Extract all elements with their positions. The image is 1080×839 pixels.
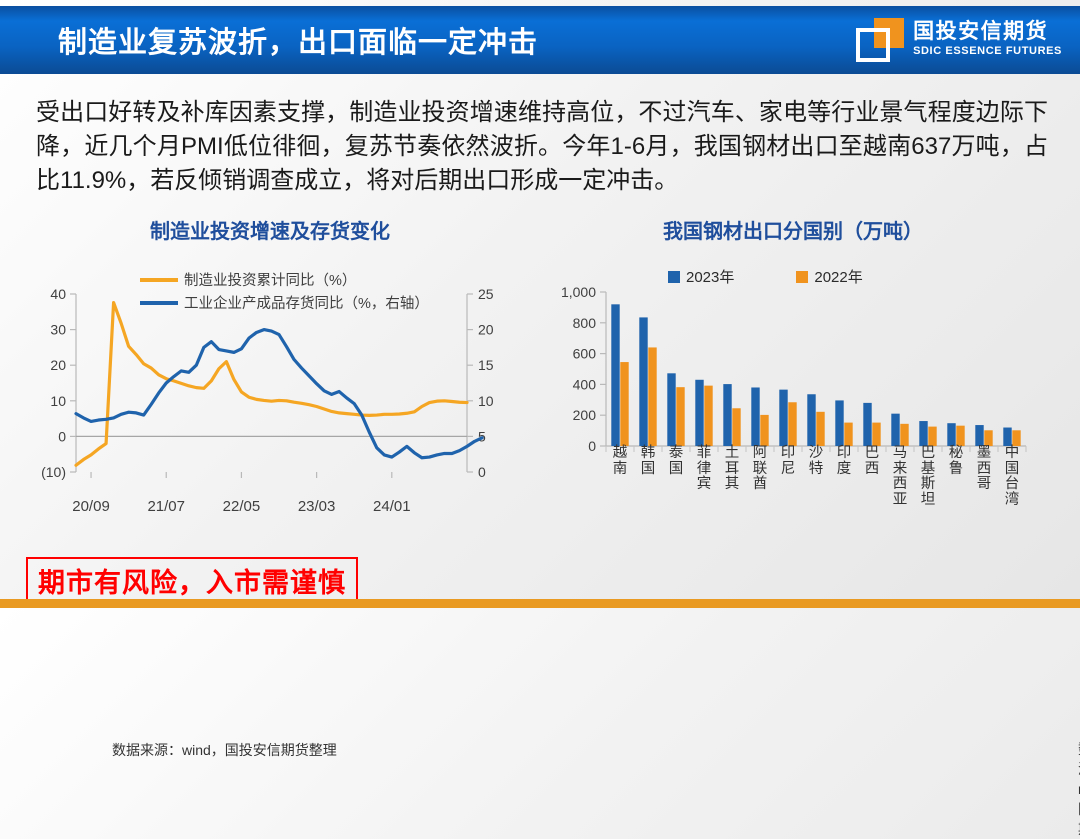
bar-category-label: 泰国 — [666, 446, 686, 477]
page-title: 制造业复苏波折，出口面临一定冲击 — [58, 19, 538, 61]
x-tick-label: 24/01 — [364, 498, 420, 515]
svg-text:20: 20 — [50, 357, 66, 373]
svg-text:20: 20 — [478, 322, 494, 338]
svg-text:(10): (10) — [41, 464, 66, 480]
svg-text:30: 30 — [50, 322, 66, 338]
page-header: 制造业复苏波折，出口面临一定冲击 国投安信期货 SDIC ESSENCE FUT… — [0, 6, 1080, 74]
svg-text:10: 10 — [50, 393, 66, 409]
logo-chinese-name: 国投安信期货 — [913, 21, 1062, 43]
right-chart-title: 我国钢材出口分国别（万吨） — [528, 215, 1058, 244]
svg-text:600: 600 — [573, 346, 597, 362]
bar-category-label: 印尼 — [778, 446, 798, 477]
svg-text:400: 400 — [573, 376, 597, 392]
steel-export-bar-chart: 2023年 2022年 1,0008006004002000 越南韩国泰国菲律宾… — [528, 250, 1058, 500]
bar-chart-category-labels: 越南韩国泰国菲律宾土耳其阿联酋印尼沙特印度巴西马来西亚巴基斯坦秘鲁墨西哥中国台湾 — [528, 446, 1058, 566]
logo-text: 国投安信期货 SDIC ESSENCE FUTURES — [913, 21, 1062, 58]
bar-category-label: 越南 — [610, 446, 630, 477]
svg-text:200: 200 — [573, 407, 597, 423]
bar-category-label: 韩国 — [638, 446, 658, 477]
manufacturing-investment-line-chart: 制造业投资累计同比（%） 工业企业产成品存货同比（%，右轴） 403020100… — [30, 250, 510, 500]
bar-category-label: 菲律宾 — [694, 446, 714, 493]
bar-category-label: 秘鲁 — [946, 446, 966, 477]
svg-text:25: 25 — [478, 286, 494, 302]
x-tick-label: 21/07 — [138, 498, 194, 515]
svg-text:1,000: 1,000 — [561, 284, 596, 300]
svg-text:15: 15 — [478, 357, 494, 373]
bar-category-label: 巴西 — [862, 446, 882, 477]
logo-mark-icon — [856, 18, 904, 62]
bar-category-label: 墨西哥 — [974, 446, 994, 493]
svg-text:40: 40 — [50, 286, 66, 302]
bar-category-label: 印度 — [834, 446, 854, 477]
company-logo: 国投安信期货 SDIC ESSENCE FUTURES — [856, 14, 1062, 66]
left-chart-title: 制造业投资增速及存货变化 — [30, 215, 510, 244]
bar-category-label: 土耳其 — [722, 446, 742, 493]
left-chart-panel: 制造业投资增速及存货变化 制造业投资累计同比（%） 工业企业产成品存货同比（%，… — [30, 215, 510, 535]
left-chart-source: 数据来源：wind，国投安信期货整理 — [112, 740, 337, 760]
slide-page: 制造业复苏波折，出口面临一定冲击 国投安信期货 SDIC ESSENCE FUT… — [0, 0, 1080, 608]
logo-english-name: SDIC ESSENCE FUTURES — [913, 45, 1062, 58]
x-tick-label: 23/03 — [289, 498, 345, 515]
bar-category-label: 中国台湾 — [1002, 446, 1022, 509]
svg-text:0: 0 — [478, 464, 486, 480]
bar-category-label: 马来西亚 — [890, 446, 910, 509]
x-tick-label: 20/09 — [63, 498, 119, 515]
bar-category-label: 阿联酋 — [750, 446, 770, 493]
svg-text:800: 800 — [573, 315, 597, 331]
bottom-accent-bar — [0, 599, 1080, 608]
body-paragraph: 受出口好转及补库因素支撑，制造业投资增速维持高位，不过汽车、家电等行业景气程度边… — [36, 96, 1048, 198]
x-tick-label: 22/05 — [213, 498, 269, 515]
svg-text:10: 10 — [478, 393, 494, 409]
svg-text:0: 0 — [58, 428, 66, 444]
logo-white-square-icon — [856, 28, 890, 62]
bar-category-label: 巴基斯坦 — [918, 446, 938, 509]
bar-category-label: 沙特 — [806, 446, 826, 477]
right-chart-panel: 我国钢材出口分国别（万吨） 2023年 2022年 1,000800600400… — [528, 215, 1058, 535]
